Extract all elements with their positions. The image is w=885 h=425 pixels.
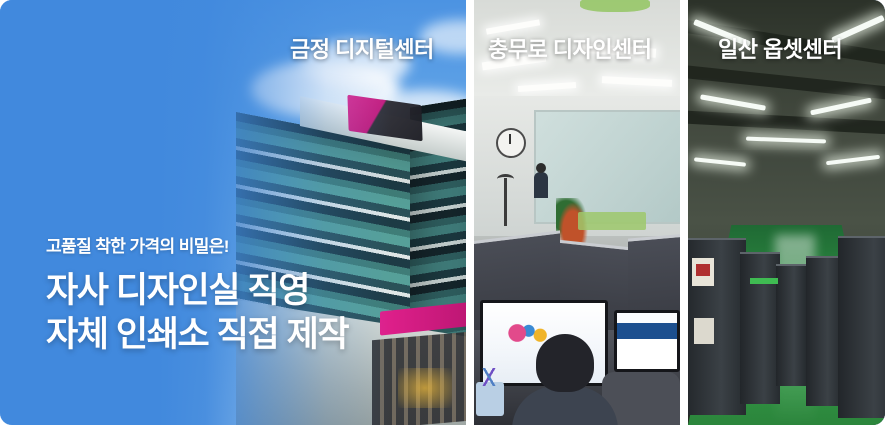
hero-headline-line-2: 자체 인쇄소 직접 제작: [46, 313, 348, 357]
computer-monitor-secondary: [614, 310, 680, 372]
panel-divider: [466, 0, 474, 425]
hero-kicker: 고품질 착한 가격의 비밀은!: [46, 232, 348, 257]
panel-label-press: 일산 옵셋센터: [718, 32, 842, 64]
promo-banner: 금정 디지털센터 충무로 디자인센터 일산 옵셋센터 고품질 착한 가격의 비밀…: [0, 0, 885, 425]
press-green-label: [750, 278, 778, 284]
hero-headline-line-1: 자사 디자인실 직영: [46, 269, 348, 313]
hero-copy: 고품질 착한 가격의 비밀은! 자사 디자인실 직영 자체 인쇄소 직접 제작: [46, 232, 348, 358]
printing-press-unit: [740, 252, 780, 404]
printing-press-unit: [776, 264, 806, 386]
panel-divider: [680, 0, 688, 425]
person-seated-background: [534, 172, 548, 198]
panel-label-building: 금정 디지털센터: [290, 32, 434, 64]
press-notice-sheet: [692, 258, 714, 286]
press-notice-sheet: [694, 318, 714, 344]
person-foreground-head: [536, 334, 594, 392]
panel-label-office: 충무로 디자인센터: [488, 32, 652, 64]
scissors-pen-cup-icon: [476, 382, 504, 416]
green-bench: [578, 212, 646, 230]
coat-rack-icon: [504, 178, 507, 226]
printing-press-unit: [806, 256, 842, 406]
ceiling-green-accent: [580, 0, 650, 12]
monitor-screen: [617, 313, 677, 369]
wall-clock-icon: [496, 128, 526, 158]
printing-press-unit: [838, 236, 885, 418]
